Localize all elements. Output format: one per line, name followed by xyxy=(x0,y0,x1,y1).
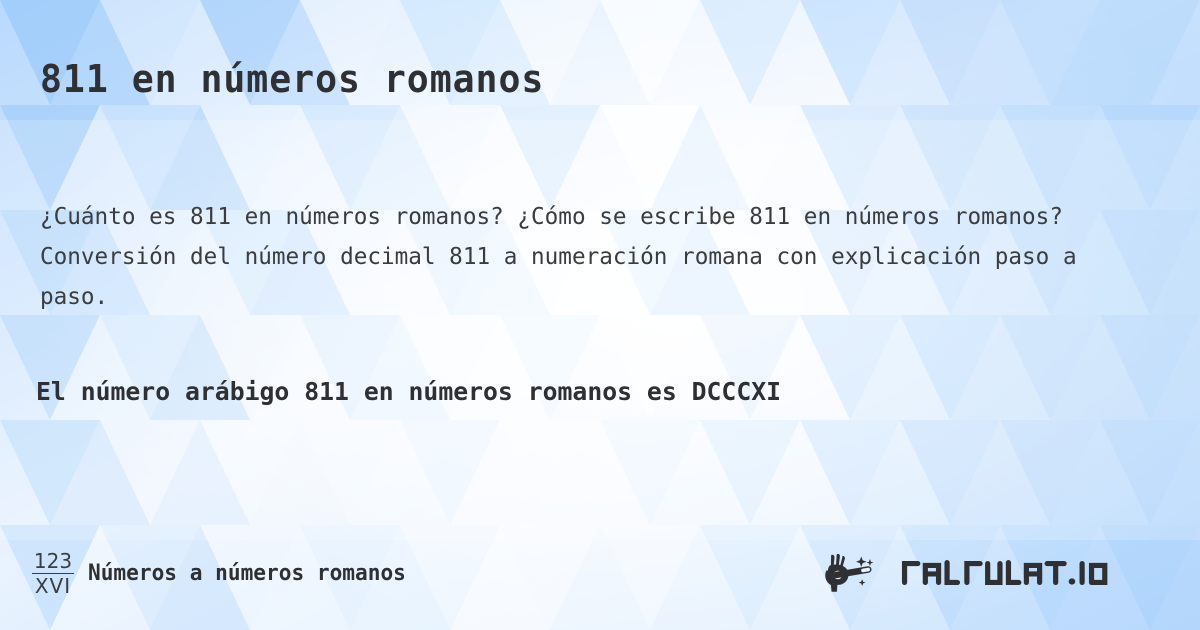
answer-statement: El número arábigo 811 en números romanos… xyxy=(36,371,1145,413)
intro-paragraph: ¿Cuánto es 811 en números romanos? ¿Cómo… xyxy=(40,197,1135,317)
footer-tool-link[interactable]: 123 XVI Números a números romanos xyxy=(32,540,419,606)
footer-tool-label: Números a números romanos xyxy=(88,561,406,586)
fraction-numerator: 123 xyxy=(34,551,72,573)
fraction-denominator: XVI xyxy=(35,574,71,596)
page-title: 811 en números romanos xyxy=(40,57,544,101)
hand-magic-wand-icon xyxy=(823,553,893,593)
brand-wordmark-calculatio xyxy=(897,556,1180,590)
og-image-card: 811 en números romanos ¿Cuánto es 811 en… xyxy=(0,0,1200,630)
brand-logo[interactable] xyxy=(823,540,1180,606)
footer: 123 XVI Números a números romanos xyxy=(0,540,1200,606)
number-conversion-fraction-icon: 123 XVI xyxy=(32,551,74,596)
